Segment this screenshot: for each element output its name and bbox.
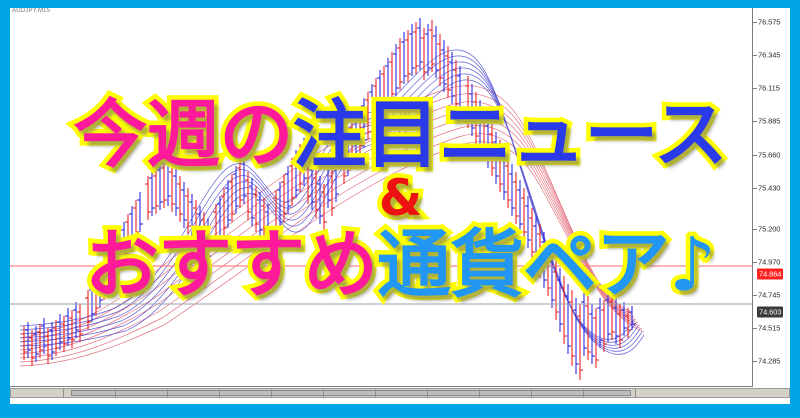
price-label: 74.515 <box>758 324 780 333</box>
price-label: 75.660 <box>758 151 780 160</box>
ask-price-badge: 74.864 <box>757 269 783 280</box>
price-label: 76.575 <box>758 18 780 27</box>
price-label: 75.885 <box>758 117 780 126</box>
ma-ribbon-red <box>20 86 644 366</box>
price-label: 74.285 <box>758 357 780 366</box>
price-label: 75.430 <box>758 184 780 193</box>
price-label: 76.115 <box>758 84 780 93</box>
price-label: 75.200 <box>758 225 780 234</box>
time-axis-scrollbar[interactable] <box>10 388 790 398</box>
candlestick-series <box>21 18 635 380</box>
screenshot-root: AUDJPY,M15 <box>0 0 800 418</box>
bid-price-badge: 74.603 <box>757 307 783 318</box>
price-chart-svg <box>10 8 752 386</box>
chart-window: AUDJPY,M15 <box>10 8 790 404</box>
price-label: 74.970 <box>758 258 780 267</box>
chart-plot-area[interactable]: AUDJPY,M15 <box>10 8 753 387</box>
price-scale[interactable]: 76.575 76.345 76.115 75.885 75.660 75.43… <box>753 8 790 386</box>
price-label: 76.345 <box>758 51 780 60</box>
scrollbar-thumb[interactable] <box>71 390 631 396</box>
price-label: 74.745 <box>758 291 780 300</box>
